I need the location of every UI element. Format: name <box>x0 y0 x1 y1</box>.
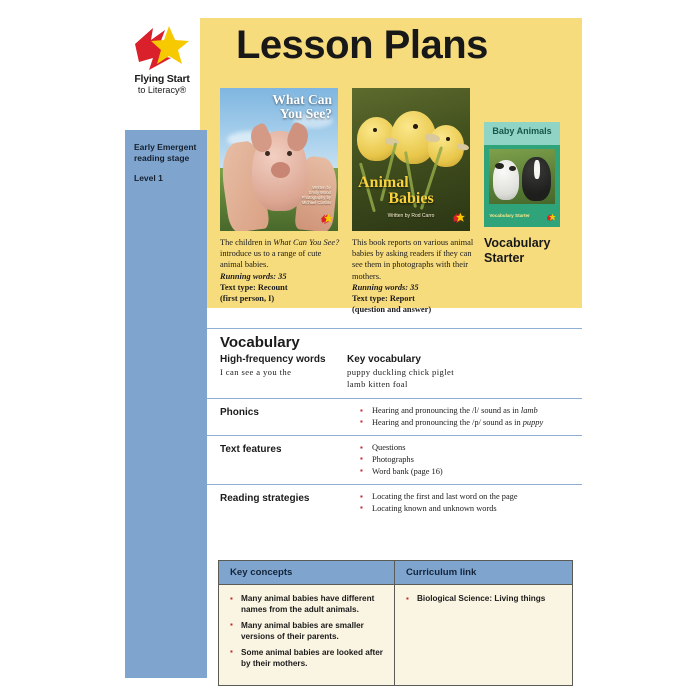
vocabulary-heading: Vocabulary <box>220 334 582 352</box>
table-body-curriculum-link: Biological Science: Living things <box>395 585 572 671</box>
book-3-title: Baby Animals <box>484 126 560 136</box>
key-vocabulary-line2: lamb kitten foal <box>347 379 582 391</box>
reading-stage-line2: reading stage <box>134 153 189 163</box>
section-body-reading-strategies: Locating the first and last word on the … <box>360 491 582 514</box>
star-arrow-logo-icon <box>131 24 193 72</box>
reading-stage-sidebar: Early Emergent reading stage Level 1 <box>125 130 207 678</box>
bullet-emphasis: lamb <box>521 406 538 415</box>
book-1-title: What Can You See? <box>220 93 332 121</box>
section-label-reading-strategies: Reading strategies <box>220 493 309 504</box>
bullet-emphasis: puppy <box>523 418 543 427</box>
list-item: Word bank (page 16) <box>360 466 576 478</box>
vocabulary-starter-line2: Starter <box>484 251 524 265</box>
book-1-title-line2: You See? <box>280 106 332 121</box>
section-reading-strategies: Reading strategies Locating the first an… <box>207 484 582 521</box>
vocabulary-columns: High-frequency words I can see a you the… <box>207 353 582 390</box>
blurb-1-title-italic: What Can You See? <box>273 238 339 247</box>
book-1-byline-line4: Michael Curtain <box>302 200 331 205</box>
list-item: Hearing and pronouncing the /p/ sound as… <box>360 417 576 429</box>
publisher-logo-icon <box>546 213 556 223</box>
reading-stage-line1: Early Emergent <box>134 142 196 152</box>
section-label-phonics: Phonics <box>220 407 259 418</box>
book-1-blurb: The children in What Can You See? introd… <box>220 237 342 304</box>
book-cover-baby-animals: Baby Animals Vocabulary Starter <box>484 122 560 227</box>
publisher-logo-icon <box>320 213 333 226</box>
text-features-list: Questions Photographs Word bank (page 16… <box>360 442 576 477</box>
key-vocabulary-line1: puppy duckling chick piglet <box>347 367 582 379</box>
book-2-title: Animal Babies <box>358 175 464 207</box>
list-item: Locating known and unknown words <box>360 503 576 515</box>
blurb-1-text-b: introduce us to a range of cute animal b… <box>220 249 321 269</box>
table-row: Many animal babies are smaller versions … <box>230 620 386 643</box>
list-item: Hearing and pronouncing the /l/ sound as… <box>360 405 576 417</box>
book-2-title-line2: Babies <box>358 191 464 207</box>
book-1-text-type-detail: (first person, I) <box>220 293 342 304</box>
book-1-text-type: Text type: Recount <box>220 282 342 293</box>
puppy-blaze <box>534 160 540 179</box>
list-item: Photographs <box>360 454 576 466</box>
duckling-eye <box>413 124 418 129</box>
reading-stage-label: Early Emergent reading stage <box>134 142 202 164</box>
book-1-running-words: Running words: 35 <box>220 271 342 282</box>
high-frequency-heading: High-frequency words <box>220 353 347 367</box>
logo-text-line2: to Literacy® <box>122 85 202 95</box>
key-concepts-list: Many animal babies have different names … <box>230 593 386 669</box>
key-concepts-table: Key concepts Many animal babies have dif… <box>218 560 573 686</box>
section-body-phonics: Hearing and pronouncing the /l/ sound as… <box>360 405 582 428</box>
book-cover-animal-babies: Animal Babies Written by Rod Carro <box>352 88 470 231</box>
brand-logo: Flying Start to Literacy® <box>122 24 202 100</box>
key-vocabulary-heading: Key vocabulary <box>347 353 582 367</box>
key-vocabulary-column: Key vocabulary puppy duckling chick pigl… <box>347 353 582 390</box>
book-2-title-line1: Animal <box>358 174 409 191</box>
bullet-text: Hearing and pronouncing the /l/ sound as… <box>372 406 521 415</box>
lesson-sections: Vocabulary High-frequency words I can se… <box>207 328 582 521</box>
table-row: Many animal babies have different names … <box>230 593 386 616</box>
blurb-2-text: This book reports on various animal babi… <box>352 238 473 281</box>
phonics-list: Hearing and pronouncing the /l/ sound as… <box>360 405 576 428</box>
high-frequency-column: High-frequency words I can see a you the <box>207 353 347 390</box>
table-header-curriculum-link: Curriculum link <box>395 561 572 585</box>
curriculum-link-list: Biological Science: Living things <box>406 593 564 604</box>
book-2-text-type-detail: (question and answer) <box>352 304 474 315</box>
section-vocabulary: Vocabulary High-frequency words I can se… <box>207 328 582 398</box>
list-item: Locating the first and last word on the … <box>360 491 576 503</box>
table-row: Biological Science: Living things <box>406 593 564 604</box>
vocabulary-starter-line1: Vocabulary <box>484 236 550 250</box>
book-1-title-line1: What Can <box>272 92 332 107</box>
high-frequency-words: I can see a you the <box>220 367 347 379</box>
book-1-byline: Written by Emily Wood Photography by Mic… <box>302 185 331 205</box>
page-title: Lesson Plans <box>236 22 488 68</box>
piglet-eye <box>265 151 270 156</box>
section-body-text-features: Questions Photographs Word bank (page 16… <box>360 442 582 477</box>
blurb-1-text-a: The children in <box>220 238 273 247</box>
bullet-text: Hearing and pronouncing the /p/ sound as… <box>372 418 523 427</box>
table-body-key-concepts: Many animal babies have different names … <box>219 585 394 685</box>
list-item: Questions <box>360 442 576 454</box>
book-2-artwork <box>352 88 470 231</box>
book-cover-what-can-you-see: What Can You See? Written by Emily Wood … <box>220 88 338 231</box>
section-label-text-features: Text features <box>220 444 282 455</box>
publisher-logo-icon <box>452 212 465 225</box>
level-label: Level 1 <box>134 173 163 183</box>
book-3-artwork <box>489 149 554 204</box>
book-2-text-type: Text type: Report <box>352 293 474 304</box>
piglet-eye <box>287 151 292 156</box>
section-phonics: Phonics Hearing and pronouncing the /l/ … <box>207 398 582 435</box>
table-row: Some animal babies are looked after by t… <box>230 647 386 670</box>
book-3-series-label: Vocabulary Starter <box>489 213 530 218</box>
table-header-key-concepts: Key concepts <box>219 561 394 585</box>
table-column-curriculum-link: Curriculum link Biological Science: Livi… <box>395 561 572 685</box>
piglet-snout <box>271 162 290 178</box>
book-2-blurb: This book reports on various animal babi… <box>352 237 474 315</box>
vocabulary-starter-caption: Vocabulary Starter <box>484 236 580 266</box>
logo-text-line1: Flying Start <box>122 74 202 85</box>
table-column-key-concepts: Key concepts Many animal babies have dif… <box>219 561 395 685</box>
book-2-running-words: Running words: 35 <box>352 282 474 293</box>
reading-strategies-list: Locating the first and last word on the … <box>360 491 576 514</box>
section-text-features: Text features Questions Photographs Word… <box>207 435 582 484</box>
